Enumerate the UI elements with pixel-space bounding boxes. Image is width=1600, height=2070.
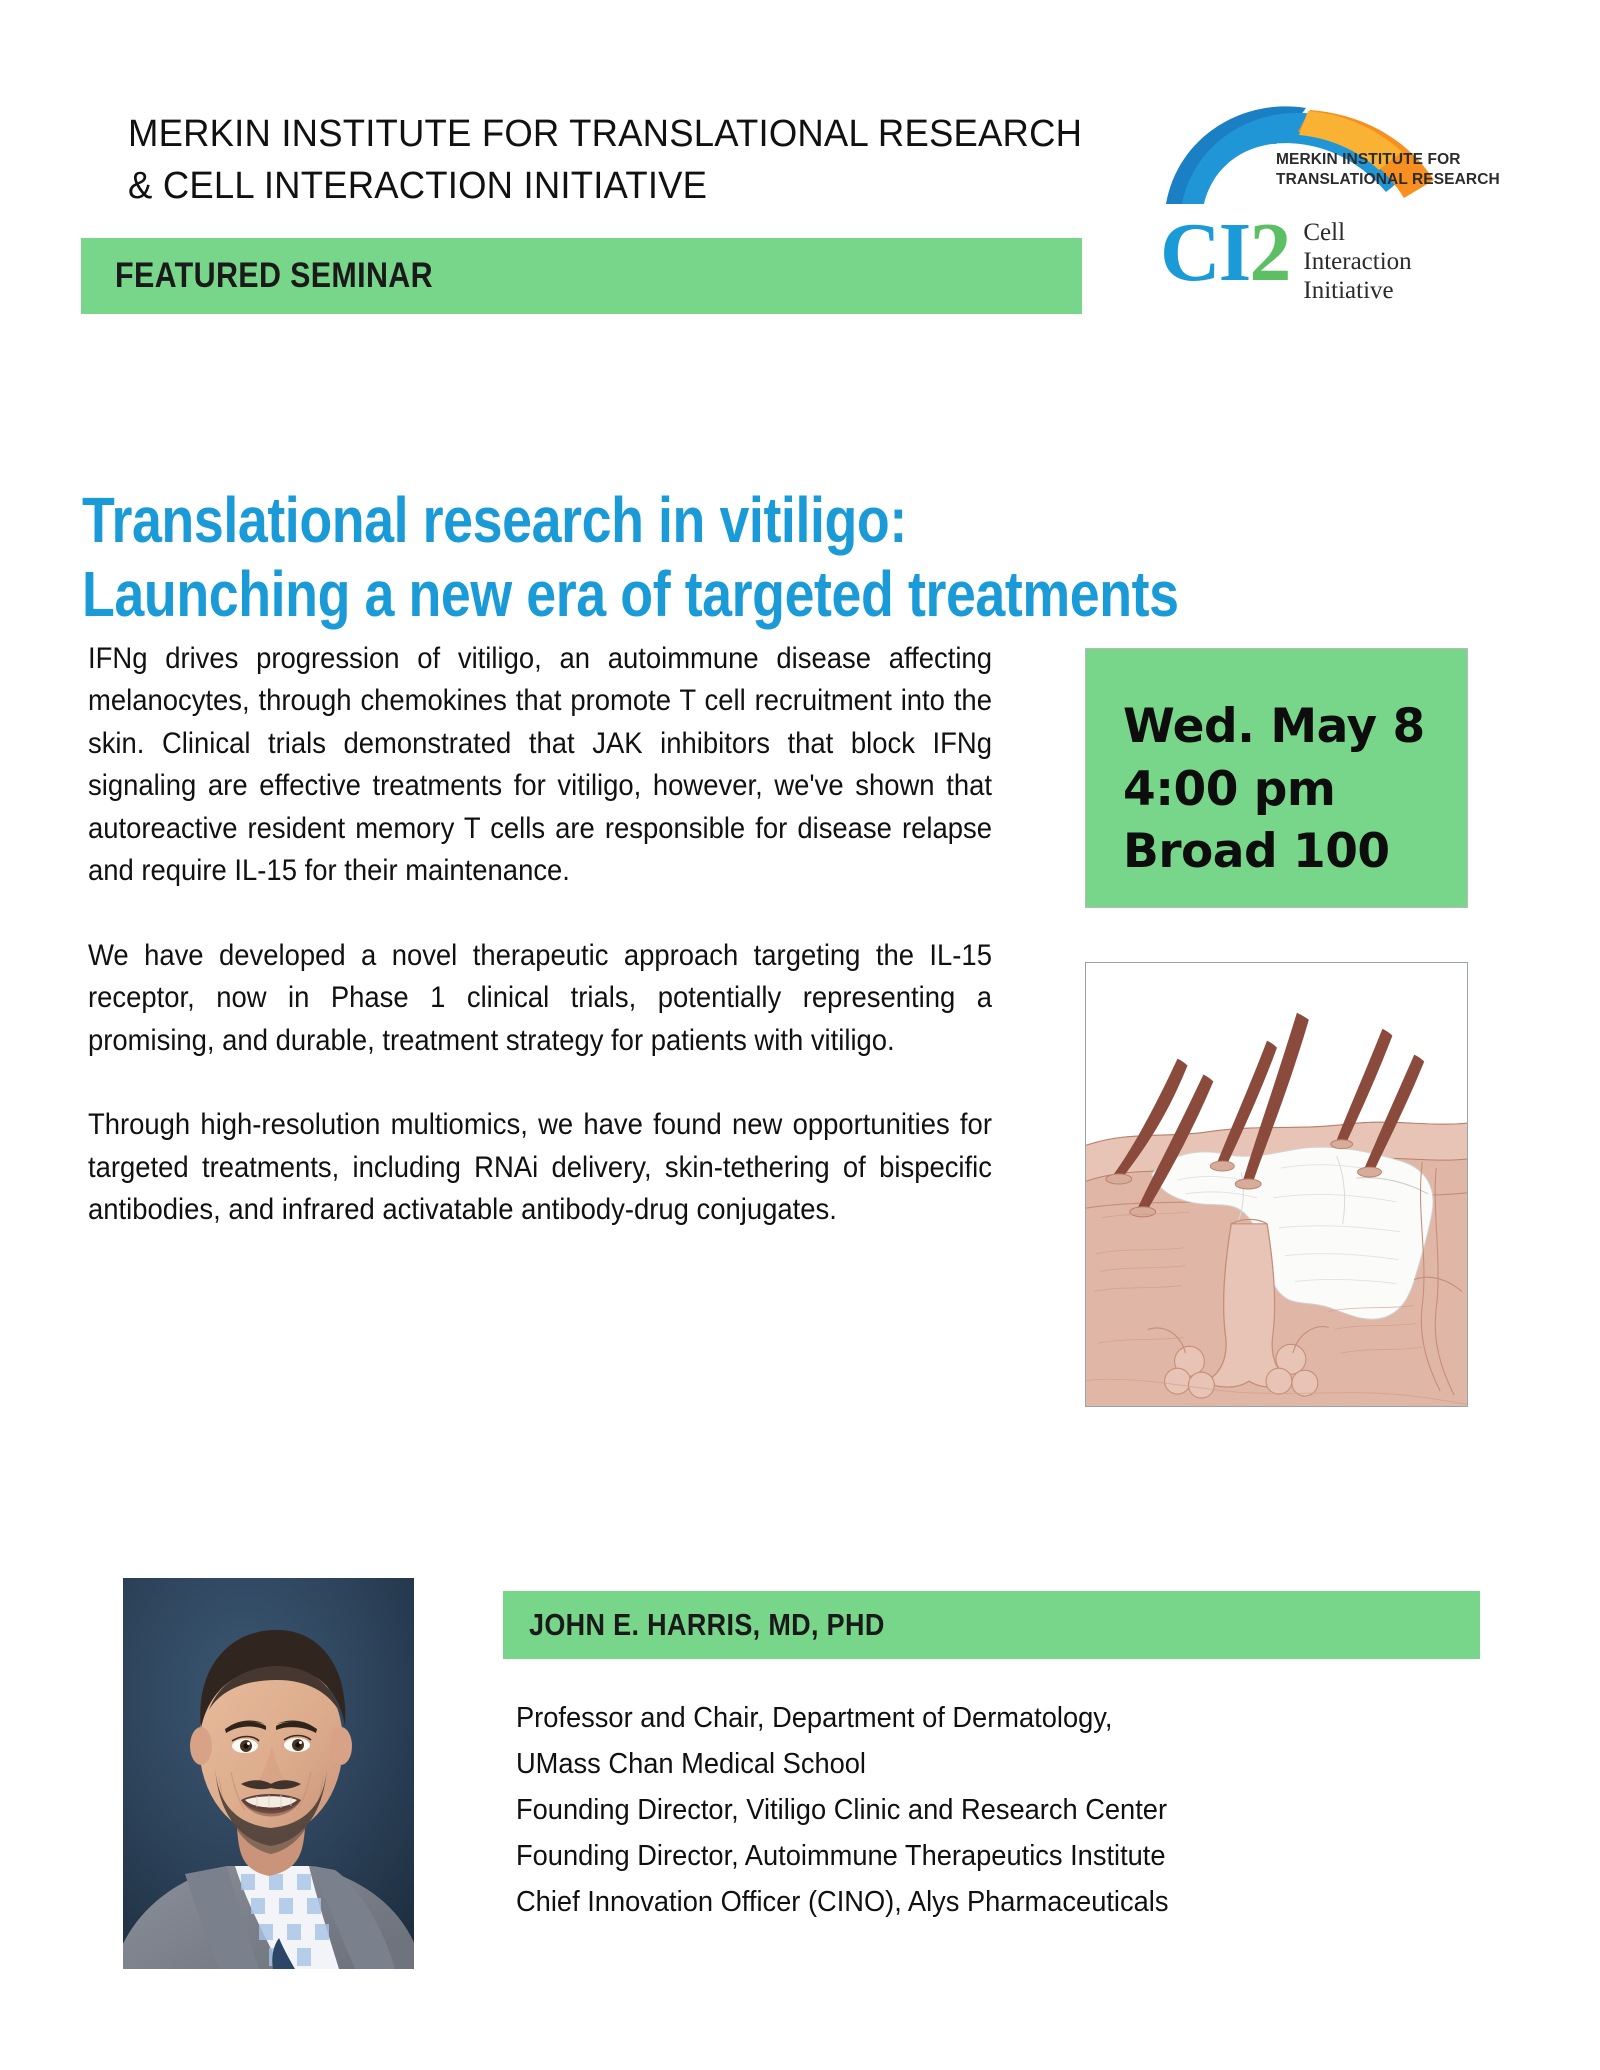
ci2-numeral-two: 2 — [1249, 206, 1289, 299]
credential-line-5: Chief Innovation Officer (CINO), Alys Ph… — [516, 1879, 1456, 1925]
event-details-box: Wed. May 8 4:00 pm Broad 100 — [1085, 648, 1468, 908]
credential-line-1: Professor and Chair, Department of Derma… — [516, 1695, 1456, 1741]
skin-vitiligo-diagram — [1086, 963, 1467, 1406]
ci2-monogram: CI2 — [1160, 214, 1289, 291]
event-location: Broad 100 — [1123, 821, 1425, 884]
speaker-portrait-image — [123, 1578, 414, 1969]
event-date: Wed. May 8 — [1123, 696, 1425, 759]
ci2-wordmark-line-2: Interaction — [1303, 247, 1411, 276]
organization-title: MERKIN INSTITUTE FOR TRANSLATIONAL RESEA… — [128, 108, 1088, 213]
credential-line-4: Founding Director, Autoimmune Therapeuti… — [516, 1833, 1456, 1879]
abstract-paragraph-1: IFNg drives progression of vitiligo, an … — [88, 638, 992, 893]
speaker-credentials: Professor and Chair, Department of Derma… — [516, 1695, 1516, 1926]
merkin-ci2-logo: MERKIN INSTITUTE FOR TRANSLATIONAL RESEA… — [1158, 96, 1518, 326]
organization-title-line-2: & CELL INTERACTION INITIATIVE — [128, 160, 1088, 212]
seminar-title-line-1: Translational research in vitiligo: — [82, 483, 1275, 557]
ci2-wordmark-line-1: Cell — [1303, 218, 1411, 247]
featured-seminar-banner: FEATURED SEMINAR — [81, 238, 1082, 314]
ci2-letter-i: I — [1219, 206, 1250, 299]
seminar-title-line-2: Launching a new era of targeted treatmen… — [82, 557, 1275, 631]
credential-line-2: UMass Chan Medical School — [516, 1741, 1456, 1787]
merkin-wordmark-line-2: TRANSLATIONAL RESEARCH — [1276, 170, 1500, 190]
merkin-institute-wordmark: MERKIN INSTITUTE FOR TRANSLATIONAL RESEA… — [1276, 150, 1500, 190]
ci2-logo: CI2 Cell Interaction Initiative — [1160, 214, 1412, 305]
skin-cross-section-illustration — [1085, 962, 1468, 1407]
abstract-text: IFNg drives progression of vitiligo, an … — [88, 638, 993, 1232]
event-details-lines: Wed. May 8 4:00 pm Broad 100 — [1123, 696, 1425, 884]
event-time: 4:00 pm — [1123, 759, 1425, 822]
speaker-name-label: JOHN E. HARRIS, MD, PHD — [529, 1607, 885, 1643]
speaker-name-banner: JOHN E. HARRIS, MD, PHD — [503, 1591, 1480, 1659]
merkin-wordmark-line-1: MERKIN INSTITUTE FOR — [1276, 150, 1500, 170]
organization-title-line-1: MERKIN INSTITUTE FOR TRANSLATIONAL RESEA… — [128, 108, 1088, 160]
ci2-wordmark-line-3: Initiative — [1303, 276, 1411, 305]
abstract-paragraph-2: We have developed a novel therapeutic ap… — [88, 935, 992, 1062]
ci2-wordmark: Cell Interaction Initiative — [1303, 218, 1411, 305]
credential-line-3: Founding Director, Vitiligo Clinic and R… — [516, 1787, 1456, 1833]
ci2-letter-c: C — [1160, 206, 1219, 299]
seminar-title: Translational research in vitiligo: Laun… — [82, 483, 1275, 631]
featured-seminar-label: FEATURED SEMINAR — [115, 256, 433, 296]
abstract-paragraph-3: Through high-resolution multiomics, we h… — [88, 1104, 992, 1231]
speaker-headshot — [123, 1578, 414, 1969]
